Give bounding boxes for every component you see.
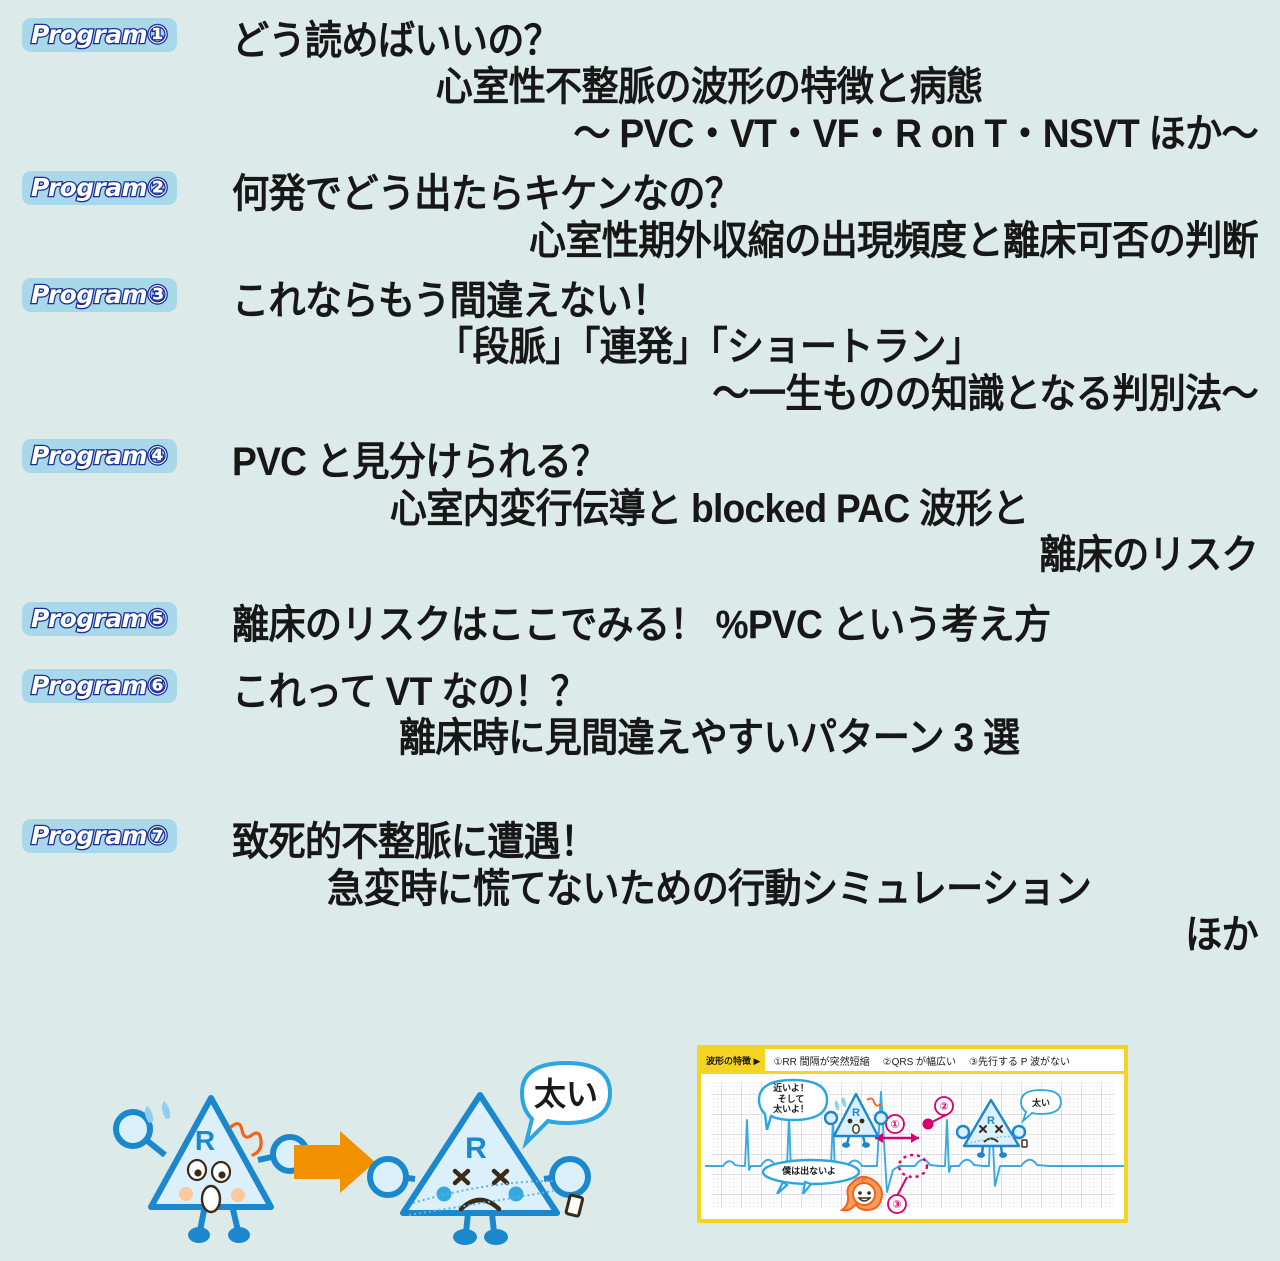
program-line: 致死的不整脈に遭遇！ [232,819,1186,865]
ecg-feature-panel: 波形の特徴 ▶ ①RR 間隔が突然短縮 ②QRS が幅広い ③先行する P 波が… [697,1045,1128,1223]
right-eye [867,1191,871,1195]
speech-bubble-text: 太い [534,1075,598,1113]
badge-cell: Program⑥ [0,669,232,703]
marker-2-label: ② [939,1101,948,1113]
program-badge: Program① [22,18,177,52]
program-row: Program⑤ 離床のリスクはここでみる！ %PVC という考え方 [0,602,1280,648]
r-label: R [195,1125,215,1156]
program-line: 〜 PVC・VT・VF・R on T・NSVT ほか〜 [304,111,1258,157]
program-badge-label: Program③ [31,282,168,307]
program-line: 離床のリスク [304,532,1258,578]
badge-cell: Program② [0,171,232,205]
program-line: 離床時に見間違えやすいパターン 3 選 [232,715,1186,761]
right-foot [862,1142,870,1148]
ecg-bubble-p: 僕は出ないよ [759,1158,859,1177]
badge-cell: Program① [0,18,232,52]
left-foot [977,1152,985,1158]
left-eye [848,1119,853,1124]
program-line: 何発でどう出たらキケンなの？ [232,171,1186,217]
ecg-bubble-near: 近いよ！そして太いよ！ [755,1078,827,1115]
left-hand [370,1159,406,1195]
badge-cell: Program⑦ [0,819,232,853]
left-cheek [179,1187,193,1201]
tape-box-icon [566,1195,583,1217]
program-line: 〜一生ものの知識となる判別法〜 [304,371,1258,417]
program-badge-label: Program② [31,175,168,200]
left-foot [842,1142,850,1148]
right-r-mascot: R 太い [370,1063,610,1245]
ecg-feature-item: ①RR 間隔が突然短縮 [773,1053,869,1068]
badge-cell: Program③ [0,278,232,312]
left-r-mascot: R [116,1098,307,1243]
program-lines: どう読めばいいの？ 心室性不整脈の波形の特徴と病態 〜 PVC・VT・VF・R … [232,18,1280,157]
tape-box-icon [1022,1140,1027,1147]
program-badge-label: Program⑤ [31,606,168,631]
program-row: Program② 何発でどう出たらキケンなの？ 心室性期外収縮の出現頻度と離床可… [0,171,1280,264]
badge-cell: Program④ [0,439,232,473]
left-hand [957,1126,969,1138]
right-hand [875,1112,887,1124]
right-cheek [231,1188,245,1202]
speech-bubble-text: 太い [1031,1097,1050,1108]
left-hand [116,1112,150,1146]
program-line: これならもう間違えない！ [232,278,1186,324]
left-pupil [194,1169,201,1176]
program-lines: 離床のリスクはここでみる！ %PVC という考え方 [232,602,1280,648]
right-foot [999,1152,1007,1158]
program-line: これって VT なの！？ [232,669,1186,715]
program-badge: Program⑤ [22,602,177,636]
program-line: 「段脈」「連発」「ショートラン」 [232,324,1186,370]
mouth [202,1186,220,1212]
right-cheek [509,1187,524,1202]
program-line: 心室内変行伝導と blocked PAC 波形と [232,486,1186,532]
ecg-feature-item: ③先行する P 波がない [969,1053,1070,1068]
right-pupil [218,1171,225,1178]
ecg-feature-item: ②QRS が幅広い [883,1053,956,1068]
right-hand [1013,1126,1025,1138]
program-row: Program③ これならもう間違えない！ 「段脈」「連発」「ショートラン」 〜… [0,278,1280,417]
program-badge-label: Program④ [31,443,168,468]
mouth [853,1125,859,1134]
program-badge: Program⑥ [22,669,177,703]
ecg-bubble-near-text: 近いよ！そして太いよ！ [755,1078,827,1115]
program-line: 離床のリスクはここでみる！ %PVC という考え方 [232,602,1186,648]
program-row: Program④ PVC と見分けられる？ 心室内変行伝導と blocked P… [0,439,1280,578]
program-lines: PVC と見分けられる？ 心室内変行伝導と blocked PAC 波形と 離床… [232,439,1280,578]
right-eye [860,1119,865,1124]
sweat-drop-icon [162,1101,170,1119]
arrow-shape [294,1131,375,1193]
transform-arrow-icon [293,1131,375,1256]
r-label: R [465,1132,487,1165]
program-row: Program① どう読めばいいの？ 心室性不整脈の波形の特徴と病態 〜 PVC… [0,18,1280,157]
program-badge: Program④ [22,439,177,473]
badge-cell: Program⑤ [0,602,232,636]
program-badge-label: Program⑥ [31,673,168,698]
ecg-panel-header: 波形の特徴 ▶ ①RR 間隔が突然短縮 ②QRS が幅広い ③先行する P 波が… [701,1049,1124,1074]
program-line: 心室性期外収縮の出現頻度と離床可否の判断 [304,218,1258,264]
program-badge: Program⑦ [22,819,177,853]
program-row: Program⑥ これって VT なの！？ 離床時に見間違えやすいパターン 3 … [0,669,1280,762]
program-badge-label: Program⑦ [31,823,168,848]
program-lines: 何発でどう出たらキケンなの？ 心室性期外収縮の出現頻度と離床可否の判断 [232,171,1280,264]
program-list: Program① どう読めばいいの？ 心室性不整脈の波形の特徴と病態 〜 PVC… [0,0,1280,959]
program-lines: 致死的不整脈に遭遇！ 急変時に慌てないための行動シミュレーション ほか [232,819,1280,958]
r-label: R [852,1107,860,1119]
ecg-panel-header-tag: 波形の特徴 ▶ [701,1049,765,1071]
left-foot [453,1229,477,1245]
program-row: Program⑦ 致死的不整脈に遭遇！ 急変時に慌てないための行動シミュレーショ… [0,819,1280,958]
program-badge-label: Program① [31,22,168,47]
program-line: ほか [304,912,1258,958]
program-badge: Program③ [22,278,177,312]
ecg-panel-body: ① ② ③ R [701,1074,1124,1220]
program-lines: これならもう間違えない！ 「段脈」「連発」「ショートラン」 〜一生ものの知識とな… [232,278,1280,417]
program-line: PVC と見分けられる？ [232,439,1186,485]
program-badge: Program② [22,171,177,205]
ecg-bubble-p-text: 僕は出ないよ [759,1158,859,1177]
ecg-panel-header-items: ①RR 間隔が突然短縮 ②QRS が幅広い ③先行する P 波がない [765,1049,1124,1071]
program-line: 急変時に慌てないための行動シミュレーション [232,866,1186,912]
marker-3-label: ③ [892,1199,901,1211]
marker-1-label: ① [890,1119,899,1131]
right-foot [484,1229,508,1245]
left-foot [188,1227,210,1243]
right-hand [552,1159,588,1195]
program-lines: これって VT なの！？ 離床時に見間違えやすいパターン 3 選 [232,669,1280,762]
program-line: どう読めばいいの？ [232,18,1186,64]
r-label: R [987,1115,995,1127]
left-cheek [437,1187,452,1202]
program-line: 心室性不整脈の波形の特徴と病態 [232,64,1186,110]
right-foot [228,1227,250,1243]
